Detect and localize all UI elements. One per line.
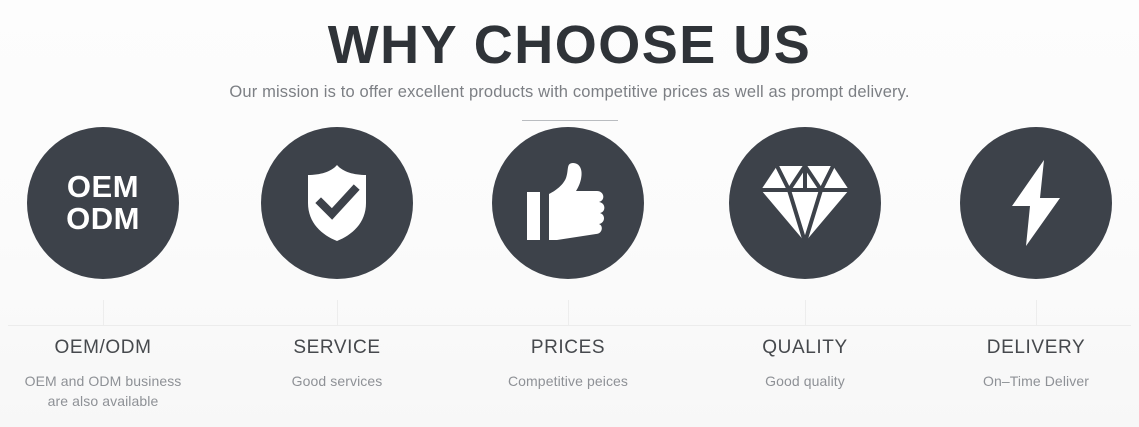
title-divider <box>522 120 618 121</box>
feature-item-prices[interactable]: PRICES Competitive peices <box>453 127 683 391</box>
feature-description-line: On–Time Deliver <box>921 371 1139 391</box>
why-choose-us-banner: WHY CHOOSE US Our mission is to offer ex… <box>0 0 1139 427</box>
lightning-bolt-icon <box>1006 158 1066 248</box>
oem-odm-text-icon: OEM ODM <box>66 171 140 235</box>
feature-item-delivery[interactable]: DELIVERY On–Time Deliver <box>921 127 1139 391</box>
feature-description-line: Good services <box>222 371 452 391</box>
feature-icon-circle[interactable] <box>492 127 644 279</box>
feature-description: On–Time Deliver <box>921 371 1139 391</box>
feature-icon-circle[interactable] <box>729 127 881 279</box>
feature-icon-circle[interactable] <box>261 127 413 279</box>
feature-title: QUALITY <box>690 337 920 359</box>
feature-description: Competitive peices <box>453 371 683 391</box>
feature-description: Good quality <box>690 371 920 391</box>
feature-item-quality[interactable]: QUALITY Good quality <box>690 127 920 391</box>
oem-label: OEM <box>66 171 140 203</box>
feature-title: SERVICE <box>222 337 452 359</box>
feature-description-line: are also available <box>0 391 218 411</box>
banner-header: WHY CHOOSE US Our mission is to offer ex… <box>0 0 1139 121</box>
odm-label: ODM <box>66 203 140 235</box>
feature-title: DELIVERY <box>921 337 1139 359</box>
feature-title: PRICES <box>453 337 683 359</box>
thumbs-up-icon <box>525 161 611 245</box>
feature-icon-circle[interactable]: OEM ODM <box>27 127 179 279</box>
feature-icon-circle[interactable] <box>960 127 1112 279</box>
page-subtitle: Our mission is to offer excellent produc… <box>0 83 1139 102</box>
feature-description: Good services <box>222 371 452 391</box>
feature-item-service[interactable]: SERVICE Good services <box>222 127 452 391</box>
shield-check-icon <box>300 163 374 243</box>
feature-title: OEM/ODM <box>0 337 218 359</box>
page-title: WHY CHOOSE US <box>0 16 1139 74</box>
feature-item-oem-odm[interactable]: OEM ODM OEM/ODM OEM and ODM business are… <box>0 127 218 412</box>
feature-description-line: Good quality <box>690 371 920 391</box>
feature-description: OEM and ODM business are also available <box>0 371 218 412</box>
feature-description-line: Competitive peices <box>453 371 683 391</box>
feature-description-line: OEM and ODM business <box>0 371 218 391</box>
diamond-icon <box>759 162 851 244</box>
feature-list: OEM ODM OEM/ODM OEM and ODM business are… <box>0 127 1139 427</box>
